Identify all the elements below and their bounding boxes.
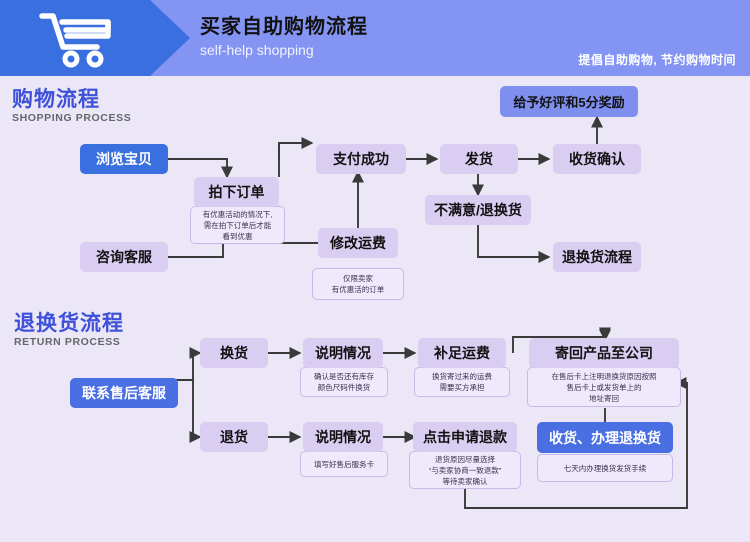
note-apply-refund: 退货原因尽量选择 “与卖家协商一致退款” 等待卖家确认	[409, 451, 521, 489]
node-unsatisfied-return[interactable]: 不满意/退换货	[425, 195, 531, 225]
note-line: 售后卡上或发货单上的	[552, 382, 657, 393]
node-browse[interactable]: 浏览宝贝	[80, 144, 168, 174]
node-place-order[interactable]: 拍下订单	[194, 177, 279, 207]
note-line: 等待卖家确认	[429, 476, 502, 487]
node-pay-success[interactable]: 支付成功	[316, 144, 406, 174]
note-send-back-product: 在售后卡上注明退换货原因按照 售后卡上或发货单上的 地址寄回	[527, 367, 681, 407]
node-receive-and-process[interactable]: 收货、办理退换货	[537, 422, 673, 453]
note-place-order: 有优惠活动的情况下, 需在拍下订单后才能 看到优惠	[190, 206, 285, 244]
node-send-back-product[interactable]: 寄回产品至公司	[529, 338, 679, 368]
note-line: 看到优惠	[203, 231, 273, 242]
node-refund[interactable]: 退货	[200, 422, 268, 452]
node-refund-explain[interactable]: 说明情况	[303, 422, 383, 452]
note-line: 填写好售后服务卡	[314, 459, 374, 470]
flowchart-page: 买家自助购物流程 self-help shopping 提倡自助购物, 节约购物…	[0, 0, 750, 542]
node-make-up-freight[interactable]: 补足运费	[418, 338, 506, 368]
note-line: 有优惠活的订单	[332, 284, 385, 295]
node-confirm-receipt[interactable]: 收货确认	[553, 144, 641, 174]
node-ship[interactable]: 发货	[440, 144, 518, 174]
node-exchange-explain[interactable]: 说明情况	[303, 338, 383, 368]
note-line: 确认是否还有库存	[314, 371, 374, 382]
node-contact-after-sale[interactable]: 联系售后客服	[70, 378, 178, 408]
note-refund-explain: 填写好售后服务卡	[300, 451, 388, 477]
node-consult-service[interactable]: 咨询客服	[80, 242, 168, 272]
note-line: 地址寄回	[552, 393, 657, 404]
note-line: 换货寄过来的运费	[432, 371, 492, 382]
node-modify-freight[interactable]: 修改运费	[318, 228, 398, 258]
node-return-flow[interactable]: 退换货流程	[553, 242, 641, 272]
note-line: 仅限卖家	[332, 273, 385, 284]
note-exchange-explain: 确认是否还有库存 颜色尺码件换货	[300, 367, 388, 397]
note-line: 有优惠活动的情况下,	[203, 209, 273, 220]
node-apply-refund[interactable]: 点击申请退款	[413, 422, 517, 452]
note-receive-and-process: 七天内办理换货发货手续	[537, 454, 673, 482]
note-line: 需要买方承担	[432, 382, 492, 393]
node-reward[interactable]: 给予好评和5分奖励	[500, 86, 638, 117]
note-line: 七天内办理换货发货手续	[564, 463, 647, 474]
note-make-up-freight: 换货寄过来的运费 需要买方承担	[414, 367, 510, 397]
note-line: 需在拍下订单后才能	[203, 220, 273, 231]
note-modify-freight: 仅限卖家 有优惠活的订单	[312, 268, 404, 300]
node-exchange[interactable]: 换货	[200, 338, 268, 368]
note-line: 在售后卡上注明退换货原因按照	[552, 371, 657, 382]
note-line: “与卖家协商一致退款”	[429, 465, 502, 476]
note-line: 颜色尺码件换货	[314, 382, 374, 393]
note-line: 退货原因尽量选择	[429, 454, 502, 465]
